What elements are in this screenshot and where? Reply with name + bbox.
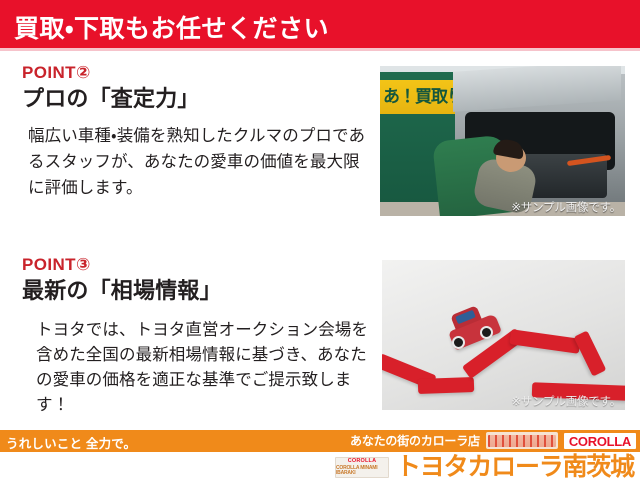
photo2-toy-car-wheel [480,326,493,339]
header-bar: 買取・下取もお任せください [0,0,640,48]
header-underline-divider [0,48,640,51]
photo1-sign-main-text: あ！買取り [383,87,463,106]
page-title: 買取・下取もお任せください [14,9,329,45]
footer-tagline: うれしいこと 全力で。 [6,433,136,452]
corolla-badge-top-text: COROLLA [348,459,377,465]
point-heading-2: プロの「査定力」 [22,86,372,112]
point-body-2: 幅広い車種・装備を熟知したクルマのプロであるスタッフが、あなたの愛車の価値を最大… [28,124,372,201]
footer-shop-text: あなたの街のカローラ店 [350,432,480,449]
staff-inspecting-engine-photo: あ！買取り車 ※サンプル画像です。 [380,66,625,216]
photo-scene-1: あ！買取り車 [380,66,625,216]
point-block-2: POINT② プロの「査定力」 幅広い車種・装備を熟知したクルマのプロであるスタ… [22,64,372,201]
footer-brand-group: あなたの街のカローラ店 COROLLA [350,432,636,449]
dealer-name: トヨタカローラ南茨城 [396,455,634,480]
point-heading-3: 最新の「相場情報」 [22,278,372,304]
corolla-badge-bottom-text: COROLLA MINAMI IBARAKI [336,466,388,476]
photo2-chart-segment [418,377,474,394]
photo-scene-2 [382,260,625,410]
point-label-2: POINT② [22,64,372,83]
storefront-illustration-icon [486,432,558,449]
point-block-3: POINT③ 最新の「相場情報」 トヨタでは、トヨタ直営オークション会場を含めた… [22,256,372,418]
dealer-logo-row: COROLLA COROLLA MINAMI IBARAKI トヨタカローラ南茨… [335,455,634,480]
toy-car-on-price-chart-photo: ※サンプル画像です。 [382,260,625,410]
corolla-wordmark: COROLLA [564,433,636,449]
photo2-toy-car-wheel [452,336,465,349]
sample-image-caption: ※サンプル画像です。 [511,199,621,215]
point-label-3: POINT③ [22,256,372,275]
sample-image-caption: ※サンプル画像です。 [511,393,621,409]
footer-bar: うれしいこと 全力で。 あなたの街のカローラ店 COROLLA [0,430,640,452]
point-body-3: トヨタでは、トヨタ直営オークション会場を含めた全国の最新相場情報に基づき、あなた… [36,318,372,418]
corolla-badge-icon: COROLLA COROLLA MINAMI IBARAKI [335,457,389,478]
